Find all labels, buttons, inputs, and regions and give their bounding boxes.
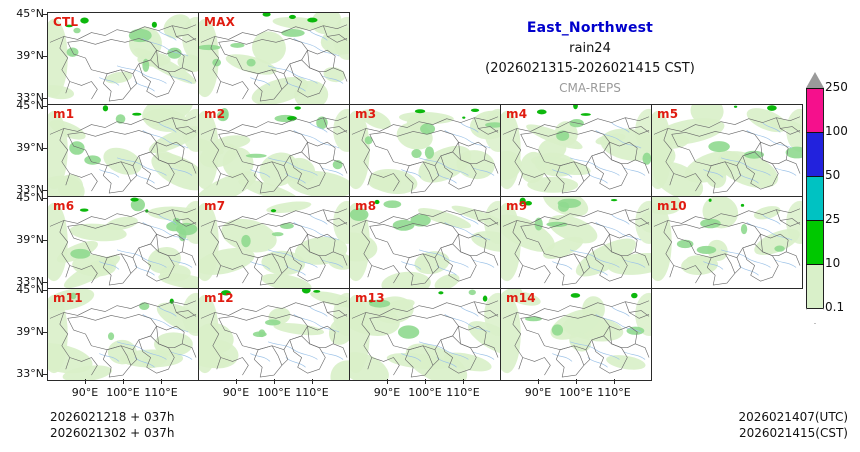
map-panel-ctl[interactable]: CTL bbox=[47, 12, 199, 105]
y-axis-tick-label: 45°N bbox=[0, 99, 44, 112]
map-panel-m9[interactable]: m9 bbox=[500, 196, 652, 289]
x-axis-tick-mark bbox=[312, 379, 313, 384]
x-axis-tick-label: 110°E bbox=[138, 386, 184, 399]
map-panel-m11[interactable]: m11 bbox=[47, 288, 199, 381]
colorbar-under-arrow bbox=[806, 308, 824, 324]
panel-label: MAX bbox=[204, 15, 235, 29]
panel-label: m4 bbox=[506, 107, 527, 121]
colorbar-over-arrow bbox=[806, 72, 824, 88]
panel-label: m12 bbox=[204, 291, 234, 305]
x-axis-tick-label: 110°E bbox=[289, 386, 335, 399]
colorbar-tick-label: 250 bbox=[825, 80, 848, 94]
colorbar-band bbox=[806, 132, 824, 176]
panel-label: m8 bbox=[355, 199, 376, 213]
valid-time-utc: 2026021407(UTC) bbox=[739, 409, 849, 425]
map-panel-m1[interactable]: m1 bbox=[47, 104, 199, 197]
x-axis-tick-mark bbox=[274, 379, 275, 384]
valid-time-cst: 2026021415(CST) bbox=[739, 425, 849, 441]
panel-label: m9 bbox=[506, 199, 527, 213]
colorbar-tick-label: 10 bbox=[825, 256, 840, 270]
y-axis-tick-mark bbox=[42, 290, 47, 291]
map-panel-max[interactable]: MAX bbox=[198, 12, 350, 105]
panel-label: m6 bbox=[53, 199, 74, 213]
map-panel-m8[interactable]: m8 bbox=[349, 196, 501, 289]
panel-label: m5 bbox=[657, 107, 678, 121]
y-axis-tick-mark bbox=[42, 56, 47, 57]
y-axis-tick-label: 33°N bbox=[0, 367, 44, 380]
x-axis-tick-label: 110°E bbox=[440, 386, 486, 399]
x-axis-tick-mark bbox=[161, 379, 162, 384]
colorbar-tick-label: 50 bbox=[825, 168, 840, 182]
x-axis-tick-mark bbox=[425, 379, 426, 384]
panel-label: m3 bbox=[355, 107, 376, 121]
y-axis-tick-label: 39°N bbox=[0, 141, 44, 154]
map-panel-empty bbox=[500, 12, 652, 105]
colorbar-divider bbox=[806, 176, 824, 177]
panel-label: m14 bbox=[506, 291, 536, 305]
y-axis-tick-label: 45°N bbox=[0, 7, 44, 20]
x-axis-tick-mark bbox=[387, 379, 388, 384]
map-panel-m13[interactable]: m13 bbox=[349, 288, 501, 381]
x-axis-tick-mark bbox=[538, 379, 539, 384]
panel-label: CTL bbox=[53, 15, 78, 29]
y-axis-tick-label: 39°N bbox=[0, 325, 44, 338]
panel-label: m10 bbox=[657, 199, 687, 213]
map-panel-m12[interactable]: m12 bbox=[198, 288, 350, 381]
x-axis-tick-mark bbox=[85, 379, 86, 384]
y-axis-tick-mark bbox=[42, 374, 47, 375]
x-axis-tick-mark bbox=[236, 379, 237, 384]
y-axis-tick-mark bbox=[42, 240, 47, 241]
x-axis-tick-label: 110°E bbox=[591, 386, 637, 399]
colorbar-divider bbox=[806, 132, 824, 133]
footer-left: 2026021218 + 037h 2026021302 + 037h bbox=[50, 409, 175, 441]
y-axis-tick-mark bbox=[42, 14, 47, 15]
y-axis-tick-label: 39°N bbox=[0, 49, 44, 62]
colorbar: 2501005025100.1 bbox=[806, 72, 824, 324]
map-panel-empty bbox=[651, 288, 803, 381]
x-axis-tick-mark bbox=[614, 379, 615, 384]
colorbar-tick-label: 25 bbox=[825, 212, 840, 226]
colorbar-divider bbox=[806, 88, 824, 89]
map-panel-m4[interactable]: m4 bbox=[500, 104, 652, 197]
map-panel-empty bbox=[651, 12, 803, 105]
panel-label: m13 bbox=[355, 291, 385, 305]
init-time-line-2: 2026021302 + 037h bbox=[50, 425, 175, 441]
x-axis-tick-mark bbox=[463, 379, 464, 384]
panel-label: m7 bbox=[204, 199, 225, 213]
x-axis-tick-mark bbox=[123, 379, 124, 384]
y-axis-tick-mark bbox=[42, 106, 47, 107]
colorbar-band bbox=[806, 176, 824, 220]
map-panel-m7[interactable]: m7 bbox=[198, 196, 350, 289]
init-time-line-1: 2026021218 + 037h bbox=[50, 409, 175, 425]
x-axis-tick-mark bbox=[576, 379, 577, 384]
panel-label: m11 bbox=[53, 291, 83, 305]
map-panel-empty bbox=[349, 12, 501, 105]
map-panel-m2[interactable]: m2 bbox=[198, 104, 350, 197]
y-axis-tick-label: 45°N bbox=[0, 283, 44, 296]
y-axis-tick-mark bbox=[42, 148, 47, 149]
colorbar-divider bbox=[806, 220, 824, 221]
y-axis-tick-mark bbox=[42, 332, 47, 333]
colorbar-divider bbox=[806, 264, 824, 265]
map-panel-m5[interactable]: m5 bbox=[651, 104, 803, 197]
colorbar-band bbox=[806, 264, 824, 308]
colorbar-band bbox=[806, 220, 824, 264]
map-panel-m14[interactable]: m14 bbox=[500, 288, 652, 381]
map-panel-m10[interactable]: m10 bbox=[651, 196, 803, 289]
colorbar-band bbox=[806, 88, 824, 132]
figure-canvas: East_Northwest rain24 (2026021315-202602… bbox=[0, 0, 860, 452]
footer-right: 2026021407(UTC) 2026021415(CST) bbox=[739, 409, 849, 441]
y-axis-tick-mark bbox=[42, 198, 47, 199]
map-panel-m3[interactable]: m3 bbox=[349, 104, 501, 197]
y-axis-tick-label: 39°N bbox=[0, 233, 44, 246]
panel-label: m2 bbox=[204, 107, 225, 121]
y-axis-tick-label: 45°N bbox=[0, 191, 44, 204]
map-panel-m6[interactable]: m6 bbox=[47, 196, 199, 289]
panel-label: m1 bbox=[53, 107, 74, 121]
colorbar-tick-label: 100 bbox=[825, 124, 848, 138]
colorbar-tick-label: 0.1 bbox=[825, 300, 844, 314]
